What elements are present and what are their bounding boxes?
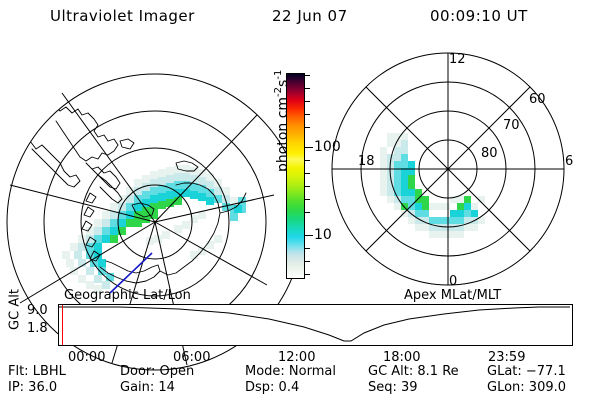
mlt-label-6: 6: [565, 154, 573, 169]
time-tick-3: 18:00: [383, 350, 420, 365]
status-footer: Flt: LBHL IP: 36.0 Door: Open Gain: 14 M…: [0, 364, 600, 398]
status-dsp: Dsp: 0.4: [245, 380, 299, 395]
time-tick-2: 12:00: [278, 350, 315, 365]
status-flt: Flt: LBHL: [8, 364, 66, 379]
mlat-label-80: 80: [481, 146, 498, 161]
status-glat: GLat: −77.1: [487, 364, 566, 379]
cbar-title-exp2: -1: [273, 70, 284, 80]
status-glon: GLon: 309.0: [487, 380, 566, 395]
geo-panel-title: Geographic Lat/Lon: [64, 288, 191, 303]
orbit-altitude-panel[interactable]: Geographic Lat/Lon Apex MLat/MLT GC Alt …: [0, 288, 600, 358]
status-door: Door: Open: [120, 364, 194, 379]
current-time-marker: [62, 305, 63, 345]
colorbar-legend: photon cm-2s-1 100 10: [265, 50, 335, 295]
instrument-title: Ultraviolet Imager: [50, 7, 195, 25]
colorbar-tick-10: 10: [314, 228, 332, 242]
observation-date: 22 Jun 07: [272, 7, 348, 25]
mlt-label-18: 18: [358, 154, 375, 169]
status-gc-alt: GC Alt: 8.1 Re: [368, 364, 459, 379]
status-ip: IP: 36.0: [8, 380, 57, 395]
altitude-curve: [59, 305, 570, 343]
mlt-axes-apex: [332, 53, 564, 285]
time-tick-4: 23:59: [488, 350, 525, 365]
mlt-label-12: 12: [449, 52, 466, 67]
status-mode: Mode: Normal: [245, 364, 336, 379]
mlat-label-60: 60: [529, 92, 546, 107]
status-seq: Seq: 39: [368, 380, 418, 395]
spacecraft-track-geo: [110, 253, 152, 293]
mlt-label-0: 0: [449, 274, 457, 289]
apex-polar-plot[interactable]: 12 18 6 0 60 70 80: [333, 45, 595, 293]
altitude-axis-label: GC Alt: [8, 280, 23, 340]
time-tick-0: 00:00: [68, 350, 105, 365]
mlat-label-70: 70: [503, 118, 520, 133]
geographic-polar-plot[interactable]: [2, 45, 267, 293]
status-gain: Gain: 14: [120, 380, 175, 395]
apex-panel-title: Apex MLat/MLT: [404, 288, 501, 303]
altitude-tick-high: 9.0: [27, 303, 48, 318]
colorbar-gradient: [286, 73, 305, 279]
observation-time: 00:09:10 UT: [430, 7, 528, 25]
uvi-screenshot: Ultraviolet Imager 22 Jun 07 00:09:10 UT: [0, 0, 600, 400]
altitude-plot-area[interactable]: [58, 304, 573, 346]
time-tick-1: 06:00: [173, 350, 210, 365]
altitude-tick-low: 1.8: [27, 321, 48, 336]
cbar-title-exp1: -2: [273, 87, 284, 97]
